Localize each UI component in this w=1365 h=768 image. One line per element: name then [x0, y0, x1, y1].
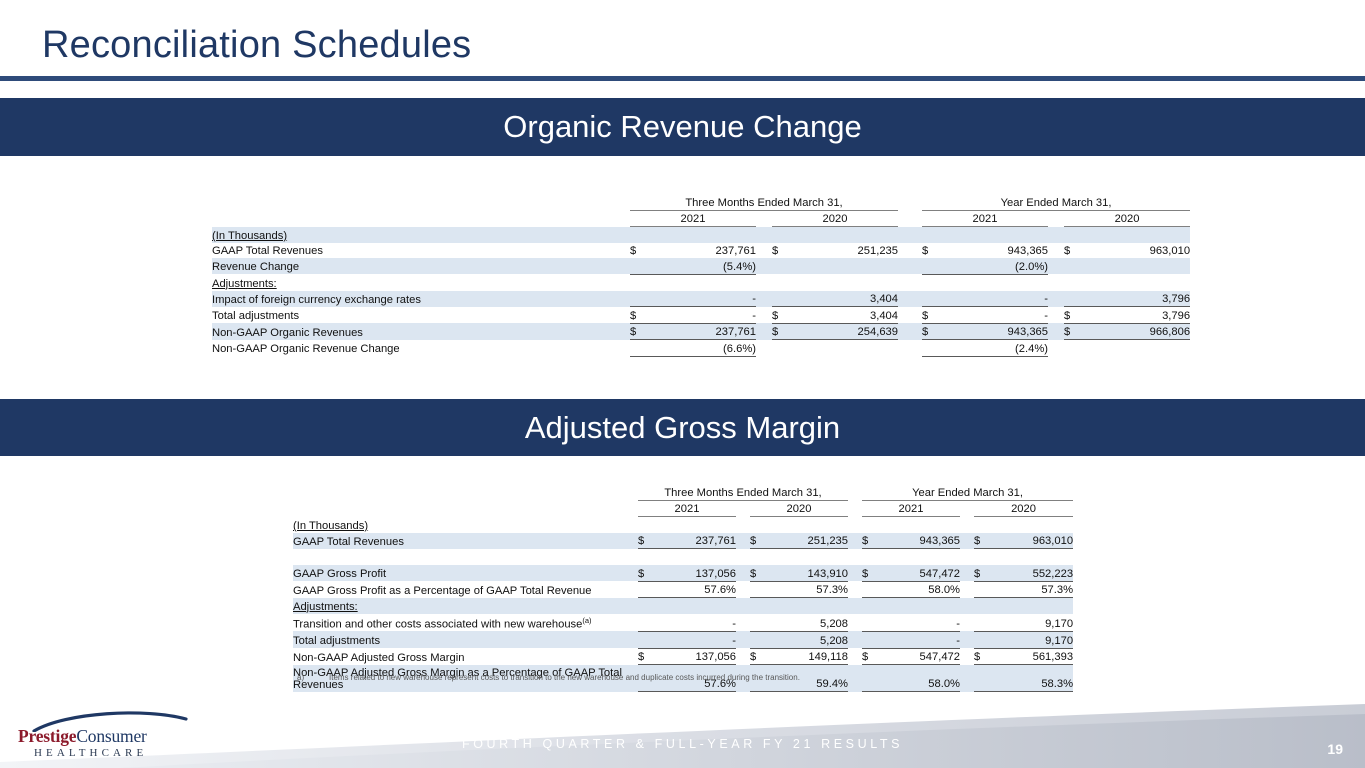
year-header-q-2020: 2020	[772, 210, 898, 227]
table-spacer-row	[293, 549, 1073, 565]
currency-symbol	[750, 631, 770, 648]
currency-symbol: $	[630, 307, 652, 324]
row-label: Total adjustments	[293, 631, 638, 648]
company-logo: PrestigeConsumer HEALTHCARE	[18, 712, 208, 760]
slide: Reconciliation Schedules Organic Revenue…	[0, 0, 1365, 768]
value-cell: 137,056	[658, 565, 736, 581]
value-cell: 143,910	[770, 565, 848, 581]
value-cell: 9,170	[994, 631, 1073, 648]
value-cell: 943,365	[882, 533, 960, 549]
row-label: GAAP Total Revenues	[212, 243, 630, 259]
value-cell: 237,761	[652, 243, 756, 259]
row-label: GAAP Total Revenues	[293, 533, 638, 549]
value-cell	[1086, 258, 1190, 274]
currency-symbol: $	[1064, 323, 1086, 340]
currency-symbol	[922, 340, 944, 357]
group-header-year-ended: Year Ended March 31,	[862, 484, 1073, 500]
value-cell: 966,806	[1086, 323, 1190, 340]
logo-subtitle: HEALTHCARE	[34, 747, 147, 759]
currency-symbol	[1064, 258, 1086, 274]
row-label: Non-GAAP Adjusted Gross Margin	[293, 648, 638, 665]
currency-symbol	[862, 581, 882, 598]
currency-symbol: $	[1064, 243, 1086, 259]
currency-symbol	[630, 291, 652, 307]
table-row: Adjustments:	[212, 274, 1190, 290]
units-label: (In Thousands)	[212, 230, 287, 242]
currency-symbol	[750, 581, 770, 598]
value-cell: 57.6%	[658, 581, 736, 598]
row-label: Non-GAAP Organic Revenues	[212, 323, 630, 340]
value-cell: 237,761	[652, 323, 756, 340]
table-row: GAAP Total Revenues $ 237,761 $ 251,235 …	[293, 533, 1073, 549]
value-cell: 943,365	[944, 323, 1048, 340]
currency-symbol: $	[630, 323, 652, 340]
value-cell: -	[882, 614, 960, 632]
currency-symbol: $	[974, 533, 994, 549]
value-cell: 547,472	[882, 648, 960, 665]
value-cell: 963,010	[994, 533, 1073, 549]
value-cell: -	[658, 614, 736, 632]
currency-symbol	[772, 340, 794, 357]
currency-symbol	[974, 581, 994, 598]
value-cell: -	[944, 291, 1048, 307]
value-cell: 237,761	[658, 533, 736, 549]
currency-symbol	[630, 258, 652, 274]
currency-symbol: $	[638, 533, 658, 549]
year-header-y-2020: 2020	[1064, 210, 1190, 227]
value-cell: 547,472	[882, 565, 960, 581]
currency-symbol: $	[862, 648, 882, 665]
value-cell: 9,170	[994, 614, 1073, 632]
currency-symbol: $	[772, 243, 794, 259]
value-cell: 254,639	[794, 323, 898, 340]
units-label: (In Thousands)	[293, 520, 368, 532]
value-cell: 3,404	[794, 291, 898, 307]
row-label: Adjustments:	[293, 601, 358, 613]
value-cell: (5.4%)	[652, 258, 756, 274]
adjusted-gross-margin-table: Three Months Ended March 31, Year Ended …	[293, 484, 1073, 692]
value-cell	[1086, 340, 1190, 357]
row-label: Transition and other costs associated wi…	[293, 618, 582, 630]
currency-symbol	[638, 614, 658, 632]
row-label	[293, 549, 638, 565]
currency-symbol: $	[862, 533, 882, 549]
table-year-header-row: 2021 2020 2021 2020	[293, 500, 1073, 517]
currency-symbol	[862, 631, 882, 648]
table-row: Non-GAAP Adjusted Gross Margin $ 137,056…	[293, 648, 1073, 665]
currency-symbol	[772, 258, 794, 274]
table-row: (In Thousands)	[293, 517, 1073, 533]
footnote-marker-label: a)	[297, 673, 329, 682]
year-header-y-2021: 2021	[922, 210, 1048, 227]
year-header-q-2021: 2021	[638, 500, 736, 517]
currency-symbol	[862, 614, 882, 632]
currency-symbol	[974, 614, 994, 632]
logo-word-consumer: Consumer	[76, 726, 146, 746]
currency-symbol	[630, 340, 652, 357]
currency-symbol: $	[750, 533, 770, 549]
row-label: Total adjustments	[212, 307, 630, 324]
currency-symbol: $	[922, 307, 944, 324]
currency-symbol: $	[772, 323, 794, 340]
value-cell: 57.3%	[994, 581, 1073, 598]
currency-symbol	[922, 291, 944, 307]
table-row: (In Thousands)	[212, 227, 1190, 243]
value-cell: (6.6%)	[652, 340, 756, 357]
currency-symbol	[638, 581, 658, 598]
organic-revenue-change-table: Three Months Ended March 31, Year Ended …	[212, 194, 1190, 357]
row-label: GAAP Gross Profit as a Percentage of GAA…	[293, 581, 638, 598]
currency-symbol	[1064, 291, 1086, 307]
value-cell: (2.4%)	[944, 340, 1048, 357]
value-cell: -	[652, 307, 756, 324]
value-cell: 149,118	[770, 648, 848, 665]
year-header-q-2020: 2020	[750, 500, 848, 517]
value-cell: 552,223	[994, 565, 1073, 581]
table-row: GAAP Gross Profit $ 137,056 $ 143,910 $ …	[293, 565, 1073, 581]
value-cell: 57.3%	[770, 581, 848, 598]
value-cell: 3,796	[1086, 291, 1190, 307]
table-row: Total adjustments - 5,208 - 9,170	[293, 631, 1073, 648]
currency-symbol: $	[1064, 307, 1086, 324]
value-cell: 251,235	[770, 533, 848, 549]
table-row: Non-GAAP Organic Revenue Change (6.6%) (…	[212, 340, 1190, 357]
value-cell	[794, 340, 898, 357]
row-label: Non-GAAP Organic Revenue Change	[212, 340, 630, 357]
currency-symbol	[1064, 340, 1086, 357]
group-header-three-months: Three Months Ended March 31,	[638, 484, 848, 500]
page-number: 19	[1327, 741, 1343, 757]
year-header-y-2021: 2021	[862, 500, 960, 517]
value-cell: 3,404	[794, 307, 898, 324]
currency-symbol: $	[750, 565, 770, 581]
table-row: Revenue Change (5.4%) (2.0%)	[212, 258, 1190, 274]
year-header-y-2020: 2020	[974, 500, 1073, 517]
currency-symbol: $	[638, 565, 658, 581]
year-header-q-2021: 2021	[630, 210, 756, 227]
currency-symbol	[772, 291, 794, 307]
row-label: Impact of foreign currency exchange rate…	[212, 291, 630, 307]
table-year-header-row: 2021 2020 2021 2020	[212, 210, 1190, 227]
value-cell: 137,056	[658, 648, 736, 665]
table-row: Adjustments:	[293, 598, 1073, 614]
value-cell: 251,235	[794, 243, 898, 259]
value-cell: 943,365	[944, 243, 1048, 259]
section-banner-adjusted-gross-margin: Adjusted Gross Margin	[0, 399, 1365, 456]
currency-symbol	[974, 631, 994, 648]
currency-symbol: $	[638, 648, 658, 665]
logo-word-prestige: Prestige	[18, 726, 76, 746]
currency-symbol: $	[922, 243, 944, 259]
value-cell: -	[882, 631, 960, 648]
value-cell: -	[944, 307, 1048, 324]
table-group-header-row: Three Months Ended March 31, Year Ended …	[293, 484, 1073, 500]
currency-symbol: $	[630, 243, 652, 259]
value-cell: 5,208	[770, 614, 848, 632]
value-cell: -	[652, 291, 756, 307]
group-header-year-ended: Year Ended March 31,	[922, 194, 1190, 210]
logo-wordmark: PrestigeConsumer	[18, 726, 147, 747]
table-row: Impact of foreign currency exchange rate…	[212, 291, 1190, 307]
currency-symbol: $	[750, 648, 770, 665]
row-label: Adjustments:	[212, 278, 277, 290]
currency-symbol	[922, 258, 944, 274]
section-banner-organic-revenue-change: Organic Revenue Change	[0, 98, 1365, 156]
currency-symbol: $	[862, 565, 882, 581]
footnote-text: Items related to new warehouse represent…	[329, 673, 800, 682]
page-title: Reconciliation Schedules	[42, 24, 471, 67]
table-footnote: a)Items related to new warehouse represe…	[297, 673, 1057, 682]
currency-symbol: $	[922, 323, 944, 340]
table-group-header-row: Three Months Ended March 31, Year Ended …	[212, 194, 1190, 210]
row-label: Revenue Change	[212, 258, 630, 274]
table-row: GAAP Gross Profit as a Percentage of GAA…	[293, 581, 1073, 598]
table-row: GAAP Total Revenues $ 237,761 $ 251,235 …	[212, 243, 1190, 259]
currency-symbol	[638, 631, 658, 648]
value-cell: 963,010	[1086, 243, 1190, 259]
currency-symbol: $	[974, 648, 994, 665]
value-cell: -	[658, 631, 736, 648]
table-row: Total adjustments $ - $ 3,404 $ - $ 3,79…	[212, 307, 1190, 324]
value-cell: 3,796	[1086, 307, 1190, 324]
currency-symbol: $	[772, 307, 794, 324]
value-cell	[794, 258, 898, 274]
title-divider-highlight	[0, 81, 1365, 83]
value-cell: (2.0%)	[944, 258, 1048, 274]
table-row: Non-GAAP Organic Revenues $ 237,761 $ 25…	[212, 323, 1190, 340]
group-header-three-months: Three Months Ended March 31,	[630, 194, 898, 210]
table-row: Transition and other costs associated wi…	[293, 614, 1073, 632]
currency-symbol: $	[974, 565, 994, 581]
value-cell: 5,208	[770, 631, 848, 648]
footnote-marker: (a)	[582, 616, 591, 625]
row-label: GAAP Gross Profit	[293, 565, 638, 581]
value-cell: 561,393	[994, 648, 1073, 665]
currency-symbol	[750, 614, 770, 632]
value-cell: 58.0%	[882, 581, 960, 598]
